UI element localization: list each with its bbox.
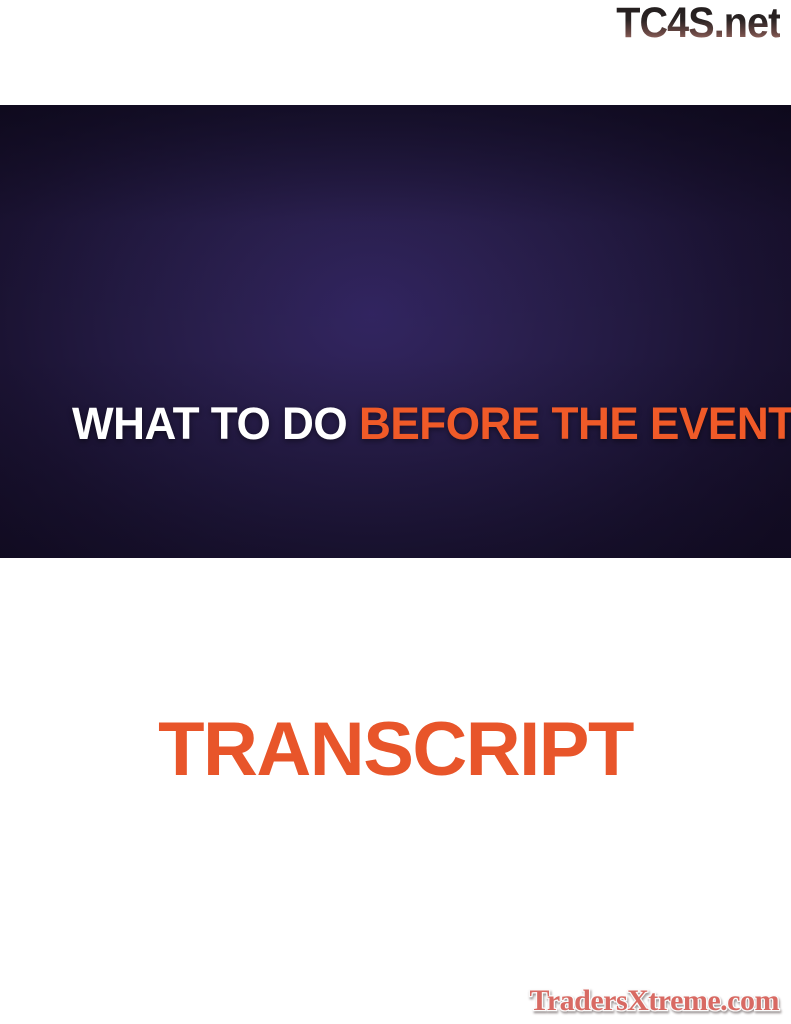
headline-space [347, 398, 359, 449]
watermark-top-right: TC4S.net [616, 2, 780, 45]
page-title: TRANSCRIPT [0, 712, 791, 788]
headline-part-white: WHAT TO DO [72, 398, 347, 449]
slide-headline: WHAT TO DO BEFORE THE EVENT [72, 401, 791, 446]
slide-image: WHAT TO DO BEFORE THE EVENT DLSUB.COM YO… [0, 105, 791, 558]
watermark-bottom-right: TradersXtreme.com [530, 986, 779, 1016]
slide-background [0, 105, 791, 558]
headline-part-orange: BEFORE THE EVENT [359, 398, 791, 449]
